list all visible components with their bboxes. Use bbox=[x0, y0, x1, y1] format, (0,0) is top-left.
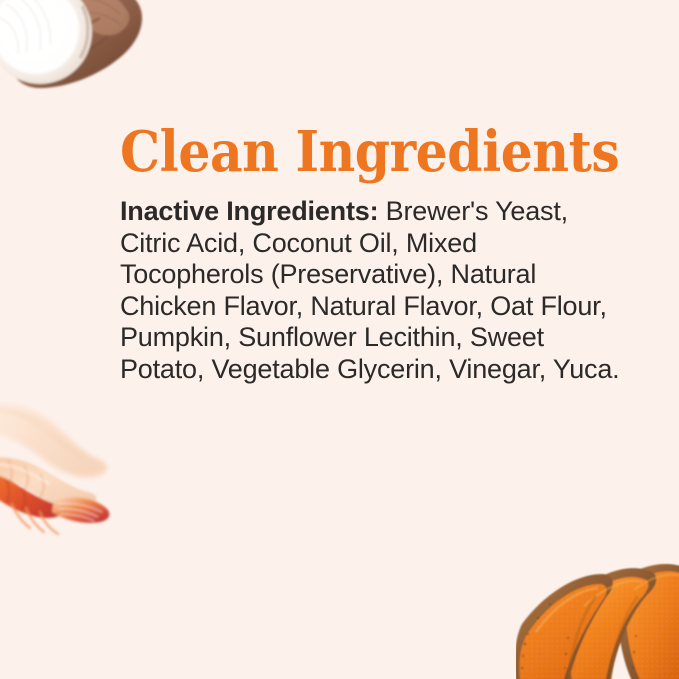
shrimp-photo bbox=[0, 402, 124, 542]
page-title: Clean Ingredients bbox=[120, 124, 570, 180]
text-content: Clean Ingredients Inactive Ingredients: … bbox=[120, 124, 620, 385]
coconut-photo bbox=[0, 0, 148, 102]
ingredients-panel: Clean Ingredients Inactive Ingredients: … bbox=[0, 0, 679, 679]
sweet-potato-photo bbox=[516, 540, 679, 679]
ingredients-paragraph: Inactive Ingredients: Brewer's Yeast, Ci… bbox=[120, 196, 620, 385]
ingredients-label: Inactive Ingredients: bbox=[120, 196, 378, 226]
